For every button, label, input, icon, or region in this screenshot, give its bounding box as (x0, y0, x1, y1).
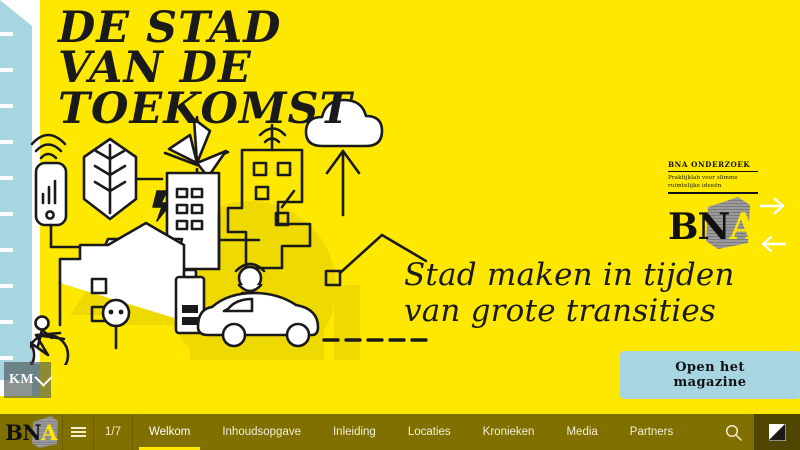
ruler-corner-cut (0, 0, 32, 26)
nav-item-welkom[interactable]: Welkom (133, 414, 206, 450)
vertical-ruler-decoration (0, 0, 32, 380)
nav-logo-text: BNA (5, 420, 57, 445)
hamburger-menu-icon[interactable] (63, 414, 94, 450)
page-title: DE STAD VAN DE TOEKOMST (58, 8, 353, 129)
bna-rule-bottom (668, 192, 758, 193)
carousel-arrows (760, 198, 790, 252)
page-counter: 1/7 (94, 414, 133, 450)
nav-item-locaties[interactable]: Locaties (392, 414, 467, 450)
bna-tagline: Praktijklab voor slimme ruimtelijke idee… (668, 174, 758, 191)
bna-logo[interactable]: BNA (668, 205, 758, 249)
km-scale-selector[interactable]: KM (4, 362, 51, 398)
open-magazine-button[interactable]: Open het magazine (620, 351, 800, 399)
bottom-navigation-bar: BNA 1/7 Welkom Inhoudsopgave Inleiding L… (0, 414, 800, 450)
search-icon[interactable] (712, 414, 754, 450)
city-of-the-future-illustration (30, 95, 450, 365)
bna-logo-text: BNA (668, 205, 758, 249)
nav-items-list: Welkom Inhoudsopgave Inleiding Locaties … (133, 414, 712, 450)
hero-banner: DE STAD VAN DE TOEKOMST KM (0, 0, 800, 414)
nav-item-media[interactable]: Media (550, 414, 613, 450)
bna-rule-top (668, 171, 758, 172)
arrow-right-icon[interactable] (760, 198, 786, 214)
nav-item-kronieken[interactable]: Kronieken (467, 414, 551, 450)
hero-subtitle: Stad maken in tijden van grote transitie… (404, 258, 735, 330)
arrow-left-icon[interactable] (760, 236, 786, 252)
bna-brand-block: BNA ONDERZOEK Praktijklab voor slimme ru… (668, 160, 758, 249)
nav-item-inhoudsopgave[interactable]: Inhoudsopgave (206, 414, 317, 450)
chevron-down-icon (34, 368, 52, 386)
nav-item-inleiding[interactable]: Inleiding (317, 414, 392, 450)
nav-item-partners[interactable]: Partners (614, 414, 689, 450)
bna-eyebrow: BNA ONDERZOEK (668, 160, 758, 169)
contrast-toggle-icon[interactable] (754, 414, 800, 450)
nav-bna-logo[interactable]: BNA (0, 414, 63, 450)
page-root: DE STAD VAN DE TOEKOMST KM (0, 0, 800, 450)
km-label: KM (9, 372, 34, 388)
